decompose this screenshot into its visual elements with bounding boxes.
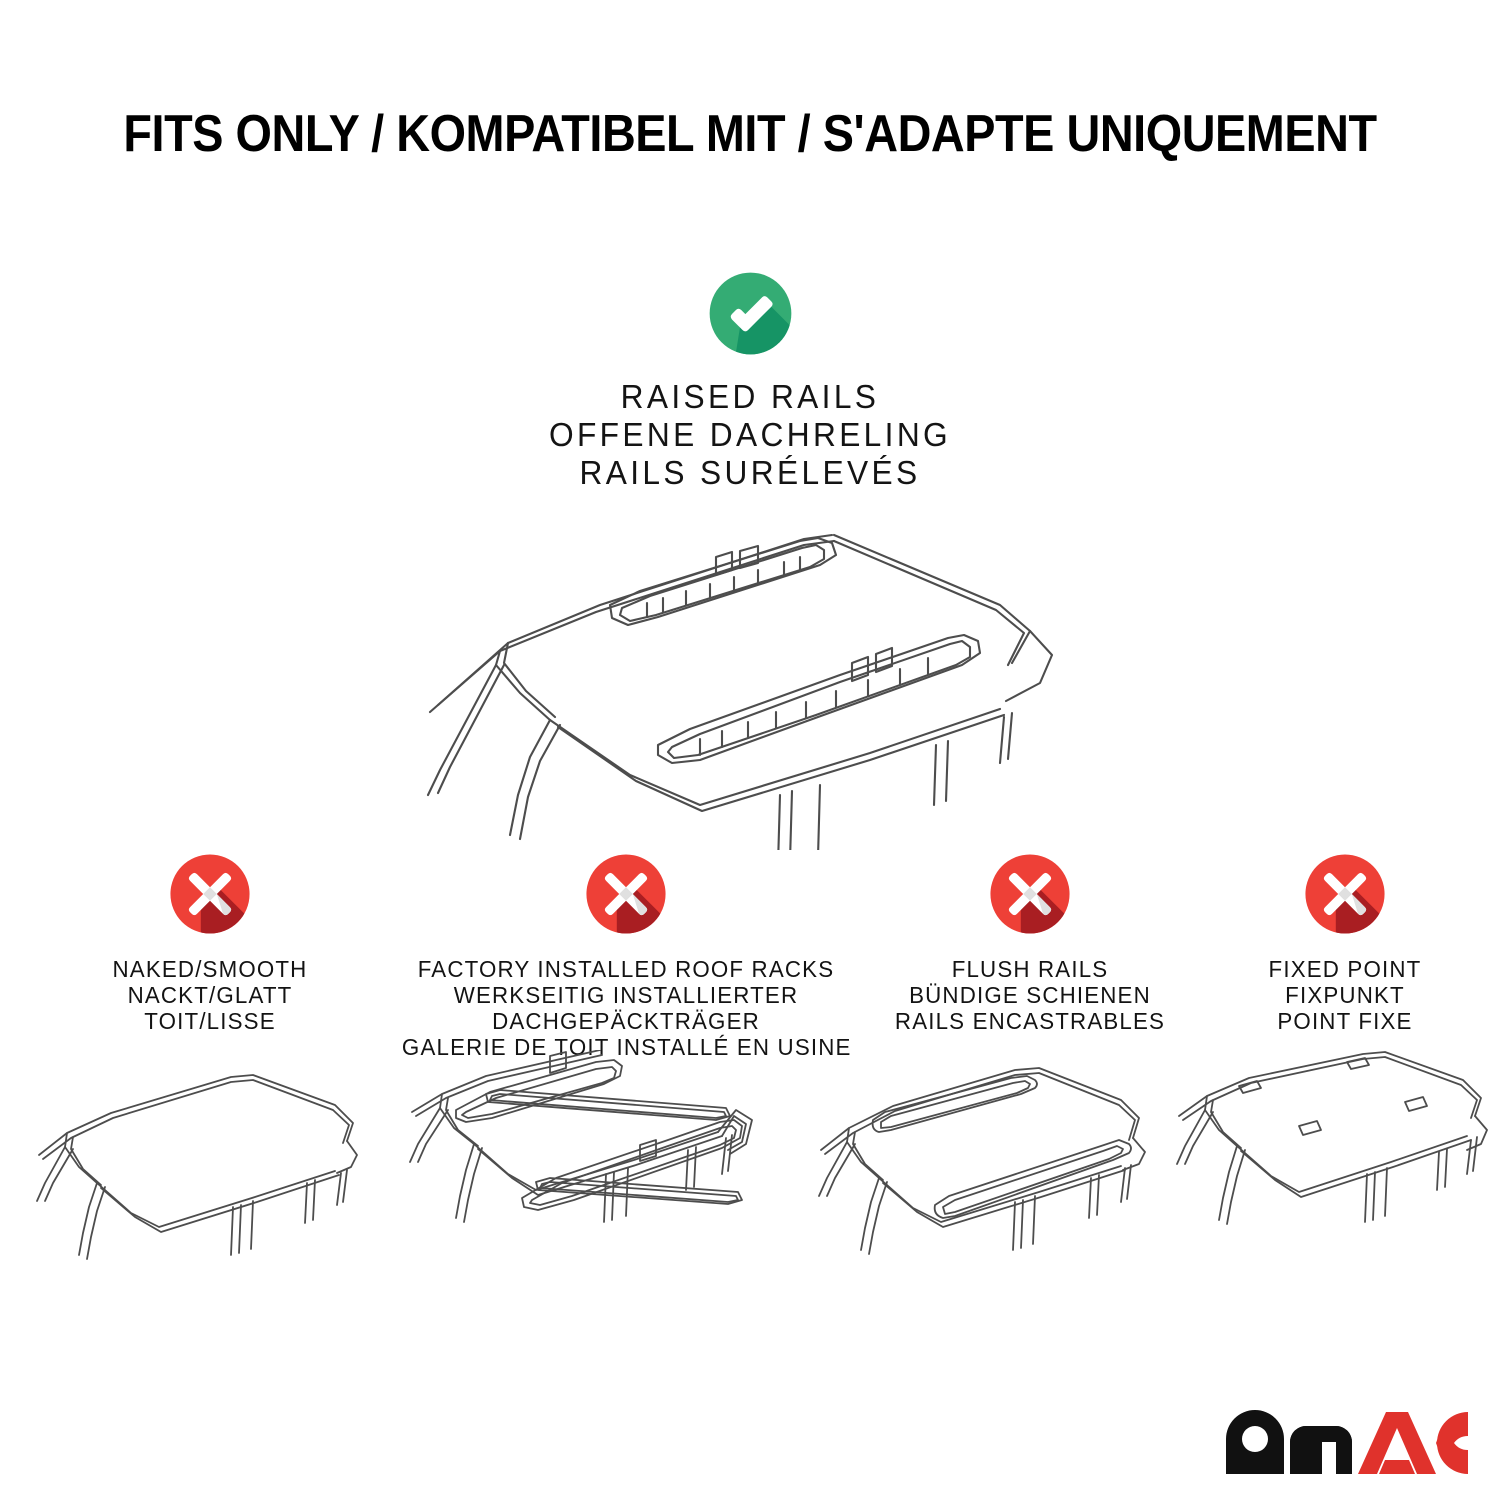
cross-circle-icon xyxy=(865,848,1195,948)
compatible-option-block xyxy=(0,266,1500,366)
incompatible-caption: FLUSH RAILS BÜNDIGE SCHIENEN RAILS ENCAS… xyxy=(865,956,1195,1034)
car-roof-naked-smooth-illustration xyxy=(35,1055,385,1285)
car-roof-factory-roof-racks-illustration xyxy=(400,1050,780,1290)
incompatible-option-flush-rails: FLUSH RAILS BÜNDIGE SCHIENEN RAILS ENCAS… xyxy=(865,848,1195,1034)
cross-circle-icon xyxy=(1200,848,1490,948)
page-title: FITS ONLY / KOMPATIBEL MIT / S'ADAPTE UN… xyxy=(75,104,1425,164)
car-roof-raised-rails-illustration xyxy=(400,505,1120,850)
caption-line-en: FACTORY INSTALLED ROOF RACKS xyxy=(402,956,850,982)
caption-line-en: NAKED/SMOOTH xyxy=(40,956,380,982)
compatible-caption-line-fr: RAILS SURÉLEVÉS xyxy=(30,454,1470,492)
car-roof-fixed-point-illustration xyxy=(1175,1050,1500,1285)
compatible-caption-line-en: RAISED RAILS xyxy=(30,378,1470,416)
incompatible-option-naked-smooth: NAKED/SMOOTH NACKT/GLATT TOIT/LISSE xyxy=(35,848,385,1034)
incompatible-caption: FACTORY INSTALLED ROOF RACKS WERKSEITIG … xyxy=(395,956,857,1060)
check-circle-icon xyxy=(703,266,798,361)
caption-line-fr: TOIT/LISSE xyxy=(40,1008,380,1034)
incompatible-caption: NAKED/SMOOTH NACKT/GLATT TOIT/LISSE xyxy=(35,956,385,1034)
caption-line-fr: RAILS ENCASTRABLES xyxy=(870,1008,1190,1034)
incompatible-option-fixed-point: FIXED POINT FIXPUNKT POINT FIXE xyxy=(1200,848,1490,1034)
caption-line-fr: POINT FIXE xyxy=(1204,1008,1485,1034)
compatible-caption-line-de: OFFENE DACHRELING xyxy=(30,416,1470,454)
fitment-compatibility-infographic: FITS ONLY / KOMPATIBEL MIT / S'ADAPTE UN… xyxy=(0,0,1500,1500)
compatible-option-caption: RAISED RAILS OFFENE DACHRELING RAILS SUR… xyxy=(0,378,1500,492)
caption-line-de-2: DACHGEPÄCKTRÄGER xyxy=(402,1008,850,1034)
cross-circle-icon xyxy=(395,848,857,948)
omac-logo xyxy=(1222,1406,1472,1478)
caption-line-en: FLUSH RAILS xyxy=(870,956,1190,982)
car-roof-flush-rails-illustration xyxy=(815,1050,1185,1290)
caption-line-en: FIXED POINT xyxy=(1204,956,1485,982)
caption-line-de: NACKT/GLATT xyxy=(40,982,380,1008)
incompatible-options-row: NAKED/SMOOTH NACKT/GLATT TOIT/LISSE xyxy=(0,848,1500,1058)
caption-line-de-1: WERKSEITIG INSTALLIERTER xyxy=(402,982,850,1008)
caption-line-de: FIXPUNKT xyxy=(1204,982,1485,1008)
incompatible-option-factory-roof-racks: FACTORY INSTALLED ROOF RACKS WERKSEITIG … xyxy=(395,848,857,1060)
cross-circle-icon xyxy=(35,848,385,948)
caption-line-de: BÜNDIGE SCHIENEN xyxy=(870,982,1190,1008)
incompatible-caption: FIXED POINT FIXPUNKT POINT FIXE xyxy=(1200,956,1490,1034)
